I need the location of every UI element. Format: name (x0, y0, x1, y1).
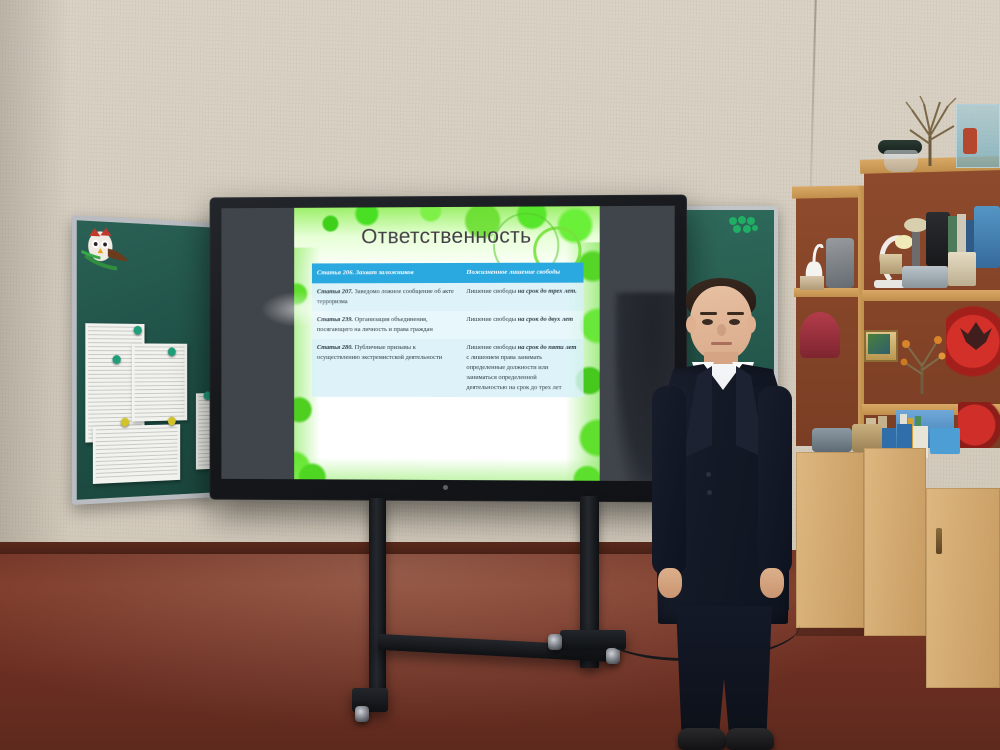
eyebrow-left (700, 312, 717, 315)
magnet (168, 347, 176, 356)
picture-image (868, 334, 890, 354)
table-row: Статья 207. Заведомо ложное сообщение об… (312, 283, 584, 311)
hand-right (760, 568, 784, 598)
ear-right (746, 316, 756, 333)
pinned-paper (93, 424, 180, 484)
caster-wheel (548, 634, 562, 650)
penalty-text: Лишение свободы (466, 316, 517, 323)
red-flower-decor (800, 312, 840, 358)
table-cell-article: Статья 280. Публичные призывы к осуществ… (312, 339, 461, 397)
head (690, 286, 752, 360)
cabinet-door-open[interactable] (926, 488, 1000, 688)
cabinet-shadow (796, 628, 864, 636)
hand-left (658, 568, 682, 598)
article-number: Статья 239. (317, 316, 353, 323)
sleeve-left (652, 386, 686, 576)
eyebrow-right (727, 312, 744, 315)
caster-wheel (355, 706, 369, 722)
eye-left (702, 319, 713, 325)
nose (717, 324, 726, 336)
plate-motif-icon (958, 316, 994, 360)
jacket-button (707, 490, 712, 495)
bookshelf-left-top (792, 185, 864, 198)
penalty-emphasis: на срок до пяти лет (518, 344, 577, 351)
left-pin-board (72, 215, 217, 505)
table-cell-article: Статья 207. Заведомо ложное сообщение об… (312, 283, 461, 311)
lamp-shade (904, 218, 928, 232)
blue-tray (930, 428, 960, 454)
cabinet-handle[interactable] (936, 528, 942, 554)
table-cell-penalty: Лишение свободы на срок до двух лет (461, 311, 583, 339)
shoe-left (678, 728, 726, 750)
dried-bouquet-icon (898, 322, 946, 394)
penalty-tail: с лишением права занимать определенные д… (466, 354, 561, 391)
penalty-emphasis: на срок до двух лет (518, 316, 573, 323)
magnet (112, 355, 120, 364)
lantern-decor (948, 252, 976, 286)
table-row: Статья 239. Организация объединения, пос… (312, 311, 584, 339)
cabinet-top-item (812, 428, 852, 452)
owl-decoration-icon (80, 225, 132, 275)
caster-wheel (606, 648, 620, 664)
pinned-paper (132, 343, 187, 421)
power-led-icon (443, 484, 448, 489)
sleeve-right (758, 386, 792, 576)
foil-decoration (826, 238, 854, 288)
stand-leg-left (369, 498, 386, 698)
cabinet-door[interactable] (864, 448, 926, 636)
terrarium-figure (963, 128, 977, 154)
table-cell-penalty: Лишение свободы на срок до пяти лет с ли… (461, 339, 583, 397)
table-row: Статья 280. Публичные призывы к осуществ… (312, 339, 584, 397)
eye-right (729, 319, 740, 325)
slide-decoration-bottom (294, 457, 600, 480)
penalty-text: Лишение свободы (466, 288, 517, 295)
interactive-panel[interactable]: Ответственность Статья 206. Захват залож… (210, 195, 687, 503)
glass-jar (884, 150, 918, 172)
student-presenter (648, 276, 798, 750)
table-header-article: Статья 206. Захват заложников (312, 263, 461, 284)
letterbox-left (221, 208, 294, 479)
penalty-text: Лишение свободы (466, 344, 517, 351)
article-number: Статья 280. (317, 344, 353, 351)
blue-crate (974, 206, 1000, 268)
jacket-button (706, 472, 711, 477)
penalty-emphasis: на срок до трех лет. (518, 288, 577, 295)
trousers (674, 606, 774, 746)
storage-box (902, 266, 948, 288)
panel-logo (443, 482, 513, 492)
mouth (711, 342, 732, 345)
article-number: Статья 207. (317, 288, 353, 295)
red-decor-lower (958, 402, 1000, 448)
table-cell-article: Статья 239. Организация объединения, пос… (312, 311, 461, 339)
panel-screen[interactable]: Ответственность Статья 206. Захват залож… (221, 206, 674, 481)
slide-title: Ответственность (294, 224, 600, 249)
presentation-slide: Ответственность Статья 206. Захват залож… (294, 206, 600, 481)
table-cell-penalty: Лишение свободы на срок до трех лет. (461, 283, 583, 311)
miniature-bench (880, 254, 902, 274)
table-header-penalty: Пожизненное лишение свободы (461, 263, 583, 284)
classroom-photo: Ответственность Статья 206. Захват залож… (0, 0, 1000, 750)
magnet (134, 326, 142, 335)
black-folder (926, 212, 950, 266)
ear-left (686, 316, 696, 333)
table-header-row: Статья 206. Захват заложников Пожизненно… (312, 263, 584, 284)
magnet-cluster-icon (728, 216, 758, 234)
responsibility-table: Статья 206. Захват заложников Пожизненно… (312, 263, 584, 397)
small-box (800, 276, 824, 290)
shoe-right (726, 728, 774, 750)
